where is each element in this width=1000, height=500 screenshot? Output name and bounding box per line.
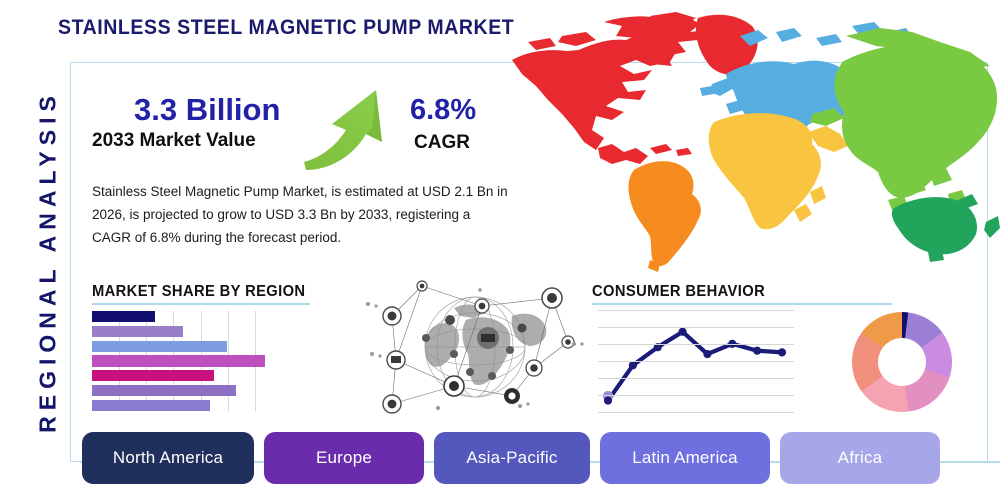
bar-row [92, 385, 236, 396]
region-chip-latin-america[interactable]: Latin America [600, 432, 770, 484]
infographic-canvas: STAINLESS STEEL MAGNETIC PUMP MARKET REG… [0, 0, 1000, 500]
region-chip-label: North America [113, 448, 223, 468]
region-chip-north-america[interactable]: North America [82, 432, 254, 484]
section-rule-consumer-behavior [592, 303, 892, 305]
page-title: STAINLESS STEEL MAGNETIC PUMP MARKET [58, 16, 514, 40]
summary-paragraph: Stainless Steel Magnetic Pump Market, is… [92, 180, 512, 250]
bar-fill [92, 355, 265, 366]
market-share-bar-chart [92, 311, 282, 411]
hero-stats: 3.3 Billion 2033 Market Value 6.8% CAGR [92, 92, 512, 172]
region-chip-rail: North AmericaEuropeAsia-PacificLatin Ame… [60, 432, 1000, 490]
region-chip-label: Latin America [632, 448, 738, 468]
region-chip-label: Africa [838, 448, 883, 468]
region-chip-africa[interactable]: Africa [780, 432, 940, 484]
donut-hole [878, 338, 926, 386]
hero-cagr-value: 6.8% [410, 94, 476, 127]
section-rule-market-share [92, 303, 310, 305]
bar-row [92, 370, 214, 381]
section-heading-consumer-behavior: CONSUMER BEHAVIOR [592, 283, 765, 301]
hero-market-value: 3.3 Billion [134, 92, 280, 128]
bar-row [92, 355, 265, 366]
bar-row [92, 341, 227, 352]
bar-fill [92, 326, 183, 337]
bar-fill [92, 385, 236, 396]
global-network-icon [362, 276, 588, 418]
hero-market-value-caption: 2033 Market Value [92, 130, 256, 152]
world-map-icon [500, 8, 1000, 276]
bar-fill [92, 400, 210, 411]
bar-fill [92, 311, 155, 322]
consumer-behavior-line-chart [598, 310, 794, 412]
bar-row [92, 400, 210, 411]
region-chip-label: Asia-Pacific [466, 448, 557, 468]
growth-arrow-icon [302, 84, 402, 172]
section-heading-market-share: MARKET SHARE BY REGION [92, 283, 305, 301]
region-chip-europe[interactable]: Europe [264, 432, 424, 484]
side-label-regional-analysis: REGIONAL ANALYSIS [35, 62, 62, 462]
bar-row [92, 311, 155, 322]
hero-cagr-caption: CAGR [414, 132, 470, 154]
region-chip-asia-pacific[interactable]: Asia-Pacific [434, 432, 590, 484]
bar-fill [92, 341, 227, 352]
line-chart-gridlines [598, 310, 794, 412]
bar-fill [92, 370, 214, 381]
region-chip-label: Europe [316, 448, 372, 468]
bar-row [92, 326, 183, 337]
regional-donut-chart [852, 312, 952, 412]
